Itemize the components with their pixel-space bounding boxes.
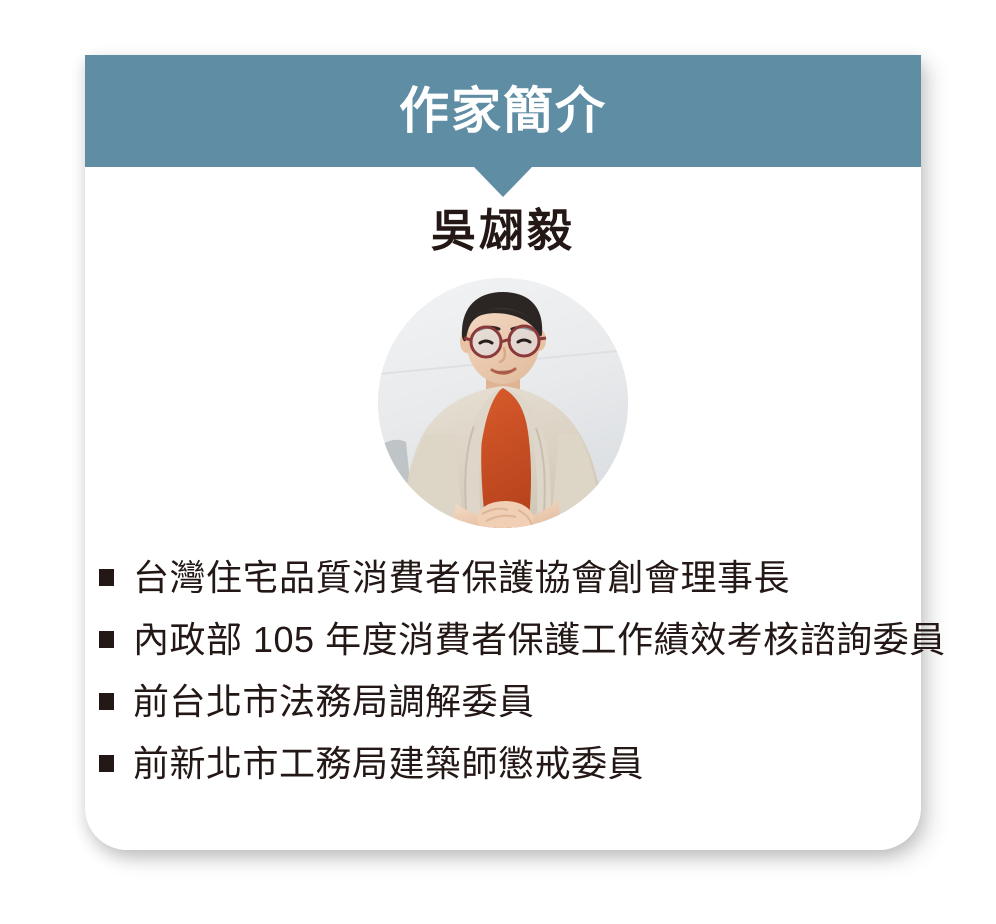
header-pointer-triangle-icon bbox=[474, 167, 532, 197]
square-bullet-icon bbox=[99, 755, 114, 772]
square-bullet-icon bbox=[99, 631, 114, 648]
portrait-photo bbox=[378, 278, 628, 528]
author-name: 吳翃毅 bbox=[85, 208, 921, 253]
credentials-list: 台灣住宅品質消費者保護協會創會理事長 內政部 105 年度消費者保護工作績效考核… bbox=[99, 555, 921, 803]
author-profile-card: 作家簡介 吳翃毅 bbox=[85, 55, 921, 850]
avatar bbox=[378, 278, 628, 528]
list-item: 台灣住宅品質消費者保護協會創會理事長 bbox=[99, 555, 921, 617]
page-title: 作家簡介 bbox=[399, 86, 607, 136]
list-item: 前新北市工務局建築師懲戒委員 bbox=[99, 741, 921, 803]
card-header: 作家簡介 bbox=[85, 55, 921, 167]
square-bullet-icon bbox=[99, 569, 114, 586]
list-item: 內政部 105 年度消費者保護工作績效考核諮詢委員 bbox=[99, 617, 921, 679]
credential-text: 前新北市工務局建築師懲戒委員 bbox=[133, 741, 644, 787]
credential-text: 內政部 105 年度消費者保護工作績效考核諮詢委員 bbox=[133, 617, 946, 663]
square-bullet-icon bbox=[99, 693, 114, 710]
credential-text: 前台北市法務局調解委員 bbox=[133, 679, 535, 725]
list-item: 前台北市法務局調解委員 bbox=[99, 679, 921, 741]
credential-text: 台灣住宅品質消費者保護協會創會理事長 bbox=[133, 555, 790, 601]
